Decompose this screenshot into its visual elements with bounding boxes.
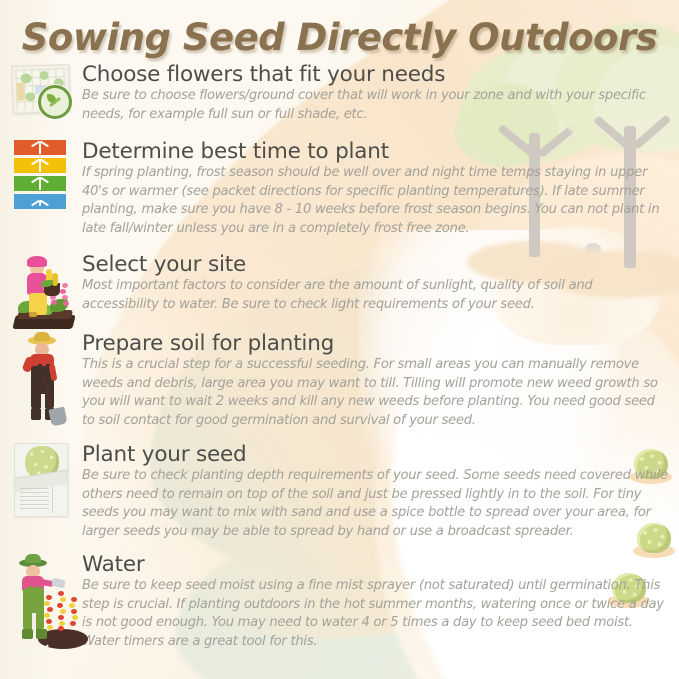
overall-strap	[37, 586, 41, 596]
step-heading: Plant your seed	[82, 443, 671, 466]
step-plant-seed: Plant your seed Be sure to check plantin…	[0, 443, 679, 542]
yellow-flower	[52, 273, 58, 286]
step-body: Be sure to keep seed moist using a fine …	[82, 577, 671, 651]
step-select-site: Select your site Most important factors …	[0, 253, 679, 339]
hat	[27, 256, 47, 267]
season-bars	[14, 140, 66, 212]
step-text: Select your site Most important factors …	[82, 253, 679, 314]
overall-strap	[38, 364, 42, 374]
step-heading: Prepare soil for planting	[82, 332, 671, 355]
step-text: Water Be sure to keep seed moist using a…	[82, 553, 679, 652]
packet-text-lines	[20, 488, 49, 512]
season-bar-spring	[14, 140, 66, 155]
gardener-watering-icon	[8, 553, 82, 639]
season-bar-winter	[14, 194, 66, 209]
gardener-with-potted-plant-icon	[8, 253, 82, 339]
overall-strap	[29, 586, 33, 596]
packet-divider	[52, 486, 53, 513]
infographic-poster: Sowing Seed Directly Outdoors Choose flo…	[0, 0, 679, 679]
four-seasons-bars-icon	[8, 140, 82, 226]
gardener-with-shovel-icon	[8, 332, 82, 418]
leg	[31, 408, 41, 420]
step-body: This is a crucial step for a successful …	[82, 356, 671, 430]
poster-content: Sowing Seed Directly Outdoors Choose flo…	[0, 0, 679, 679]
step-choose-flowers: Choose flowers that fit your needs Be su…	[0, 63, 679, 149]
straw-hat-crown	[34, 332, 50, 341]
green-hat-crown	[25, 554, 41, 563]
step-text: Determine best time to plant If spring p…	[82, 140, 679, 239]
step-body: If spring planting, frost season should …	[82, 164, 671, 238]
step-heading: Select your site	[82, 253, 671, 276]
step-body: Be sure to check planting depth requirem…	[82, 467, 671, 541]
garden-plan-map-icon	[8, 63, 82, 149]
step-body: Most important factors to consider are t…	[82, 277, 671, 314]
step-heading: Determine best time to plant	[82, 140, 671, 163]
page-title: Sowing Seed Directly Outdoors	[0, 16, 679, 59]
seed-packet-icon	[8, 443, 82, 529]
step-heading: Choose flowers that fit your needs	[82, 63, 671, 86]
step-text: Choose flowers that fit your needs Be su…	[82, 63, 679, 124]
flower-spike	[71, 597, 77, 631]
seed-packet	[14, 443, 68, 517]
step-body: Be sure to choose flowers/ground cover t…	[82, 87, 671, 124]
step-determine-time: Determine best time to plant If spring p…	[0, 140, 679, 239]
flower-spike	[62, 283, 68, 307]
shoe	[29, 312, 37, 317]
magnifier-icon	[38, 85, 72, 119]
season-bar-summer	[14, 158, 66, 173]
step-prepare-soil: Prepare soil for planting This is a cruc…	[0, 332, 679, 431]
step-text: Plant your seed Be sure to check plantin…	[82, 443, 679, 542]
step-heading: Water	[82, 553, 671, 576]
step-water: Water Be sure to keep seed moist using a…	[0, 553, 679, 652]
garden-hose	[10, 623, 54, 651]
season-bar-fall	[14, 176, 66, 191]
step-text: Prepare soil for planting This is a cruc…	[82, 332, 679, 431]
